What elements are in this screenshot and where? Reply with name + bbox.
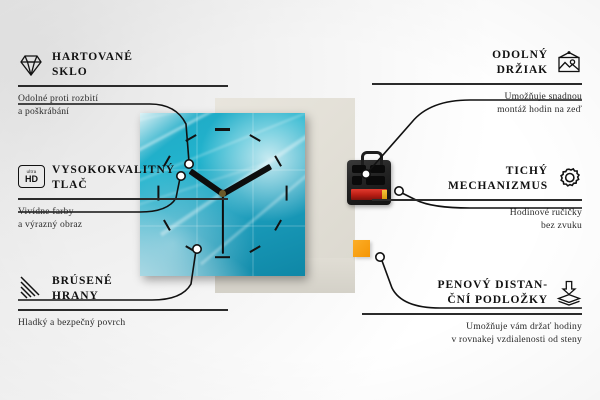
feature-title: HARTOVANÉ SKLO (52, 50, 133, 80)
feature-ground-edges: BRÚSENÉ HRANY Hladký a bezpečný povrch (18, 274, 228, 329)
feature-subtitle: Umožňuje snadnou montáž hodin na zeď (372, 90, 582, 116)
clock-hour-mark (249, 134, 260, 142)
feature-title: BRÚSENÉ HRANY (52, 274, 113, 304)
feature-foam-spacers: PENOVÝ DISTAN- ČNÍ PODLOŽKY Umožňuje vám… (362, 278, 582, 346)
connector-node (376, 253, 384, 261)
feature-hq-print: ultra HD VYSOKOKVALITNÝ TLAČ Vivídne far… (18, 163, 228, 231)
clock-hour-mark (215, 128, 230, 130)
clock-hour-mark (215, 256, 230, 258)
feature-title: VYSOKOKVALITNÝ TLAČ (52, 163, 175, 193)
infographic-canvas: HARTOVANÉ SKLO Odolné proti rozbití a po… (0, 0, 600, 400)
feature-subtitle: Hladký a bezpečný povrch (18, 316, 228, 329)
ground-edges-icon (18, 276, 44, 302)
divider (372, 83, 582, 84)
foam-spacer-icon (556, 280, 582, 306)
feature-subtitle: Odolné proti rozbití a poškrábání (18, 92, 228, 118)
divider (362, 313, 582, 314)
clock-hour-mark (185, 134, 196, 142)
picture-hanger-icon (556, 50, 582, 76)
diamond-icon (18, 52, 44, 78)
feature-durable-hanger: ODOLNÝ DRŽIAK Umožňuje snadnou montáž ho… (372, 48, 582, 116)
feature-title: PENOVÝ DISTAN- ČNÍ PODLOŽKY (438, 278, 548, 308)
divider (372, 199, 582, 200)
hanger-loop-icon (361, 151, 383, 165)
feature-title: ODOLNÝ DRŽIAK (492, 48, 548, 78)
ultra-hd-icon: ultra HD (18, 165, 44, 191)
feature-tempered-glass: HARTOVANÉ SKLO Odolné proti rozbití a po… (18, 50, 228, 118)
feature-silent-mechanism: TICHÝ MECHANIZMUS Hodinové ručičky bez z… (372, 164, 582, 232)
clock-hour-mark (249, 245, 260, 253)
feature-subtitle: Vivídne farby a výrazný obraz (18, 205, 228, 231)
gear-icon (556, 166, 582, 192)
foam-spacer-pad (353, 240, 370, 257)
feature-subtitle: Hodinové ručičky bez zvuku (372, 206, 582, 232)
feature-title: TICHÝ MECHANIZMUS (448, 164, 548, 194)
divider (18, 198, 228, 199)
clock-hour-mark (185, 245, 196, 253)
feature-subtitle: Umožňuje vám držať hodiny v rovnakej vzd… (362, 320, 582, 346)
clock-hour-mark (285, 186, 287, 201)
divider (18, 85, 228, 86)
divider (18, 309, 228, 310)
